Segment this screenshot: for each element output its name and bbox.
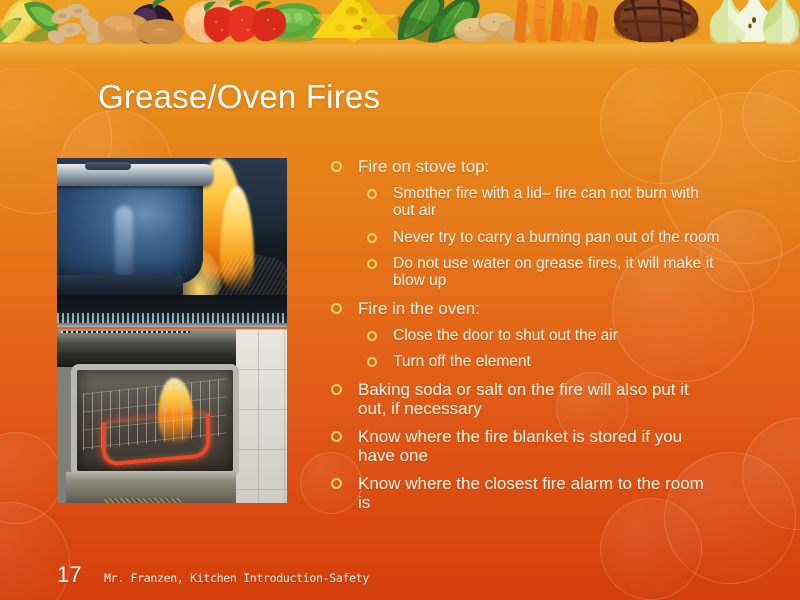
pot-lid-knob xyxy=(85,162,131,170)
bullet-subitem: Never try to carry a burning pan out of … xyxy=(361,229,720,246)
bullet-item: Fire on stove top: xyxy=(328,157,720,176)
bullet-item: Know where the fire blanket is stored if… xyxy=(328,427,720,465)
bullet-item: Fire in the oven: xyxy=(328,299,720,318)
bullet-ring-icon xyxy=(367,331,377,341)
footer-text: Mr. Franzen, Kitchen Introduction-Safety xyxy=(104,571,369,585)
stove-burner xyxy=(57,275,183,297)
bullet-item: Know where the closest fire alarm to the… xyxy=(328,474,720,512)
bullet-ring-icon xyxy=(331,303,342,314)
oven-door xyxy=(66,472,236,503)
kitchen-wall-tiles xyxy=(232,329,287,503)
bullet-text: Never try to carry a burning pan out of … xyxy=(393,229,720,246)
bullet-text: Turn off the element xyxy=(393,353,531,370)
bullet-ring-icon xyxy=(331,431,342,442)
stove-grate xyxy=(57,313,287,323)
bullet-ring-icon xyxy=(367,233,377,243)
bullet-subitem: Turn off the element xyxy=(361,353,720,370)
bullet-subitem: Do not use water on grease fires, it wil… xyxy=(361,255,720,290)
bullet-text: Fire on stove top: xyxy=(358,157,489,176)
pot-highlight xyxy=(115,206,133,280)
page-title: Grease/Oven Fires xyxy=(98,78,718,116)
bullet-text: Smother fire with a lid– fire can not bu… xyxy=(393,185,699,219)
banner-item-grilled-steak xyxy=(606,0,706,44)
banner-item-strawberries xyxy=(196,0,296,44)
bullet-ring-icon xyxy=(367,189,377,199)
food-border-banner xyxy=(0,0,800,68)
tile-grid xyxy=(232,329,287,503)
banner-item-pear-halves xyxy=(702,0,800,44)
banner-item-carrots xyxy=(498,0,610,44)
stove-front-panel xyxy=(57,295,287,327)
bubble-decor xyxy=(742,70,800,162)
banner-item-bagels xyxy=(96,10,192,44)
burnt-debris xyxy=(104,498,182,502)
bullet-text: Know where the closest fire alarm to the… xyxy=(358,474,704,512)
bullet-ring-icon xyxy=(331,161,342,172)
bullet-text: Fire in the oven: xyxy=(358,299,480,318)
bullet-ring-icon xyxy=(367,259,377,269)
grease-fire-on-stove-photo xyxy=(57,158,287,327)
bubble-decor xyxy=(0,432,62,524)
banner-fade xyxy=(0,60,800,68)
oven-fire-photo xyxy=(57,329,287,503)
bullet-subitem: Close the door to shut out the air xyxy=(361,327,720,344)
banner-item-swiss-cheese-wedge xyxy=(306,0,402,44)
pot-lid xyxy=(57,164,213,186)
bullet-ring-icon xyxy=(331,478,342,489)
slide-number: 17 xyxy=(57,562,81,588)
presentation-slide: Grease/Oven Fires xyxy=(0,0,800,600)
bullet-text: Close the door to shut out the air xyxy=(393,327,618,344)
bullet-subitem: Smother fire with a lid– fire can not bu… xyxy=(361,185,720,220)
bullet-text: Do not use water on grease fires, it wil… xyxy=(393,255,713,289)
oven-cavity xyxy=(71,364,239,477)
bullet-text: Know where the fire blanket is stored if… xyxy=(358,427,682,465)
oven-top-panel xyxy=(57,329,236,367)
oven-vent xyxy=(61,331,190,334)
bullet-ring-icon xyxy=(367,357,377,367)
bullet-ring-icon xyxy=(331,384,342,395)
bubble-decor xyxy=(742,418,800,530)
blue-pot xyxy=(57,176,203,284)
bullet-item: Baking soda or salt on the fire will als… xyxy=(328,380,720,418)
slide-body-bullets: Fire on stove top: Smother fire with a l… xyxy=(328,157,720,521)
glowing-heating-element xyxy=(102,414,210,468)
bullet-text: Baking soda or salt on the fire will als… xyxy=(358,380,689,418)
